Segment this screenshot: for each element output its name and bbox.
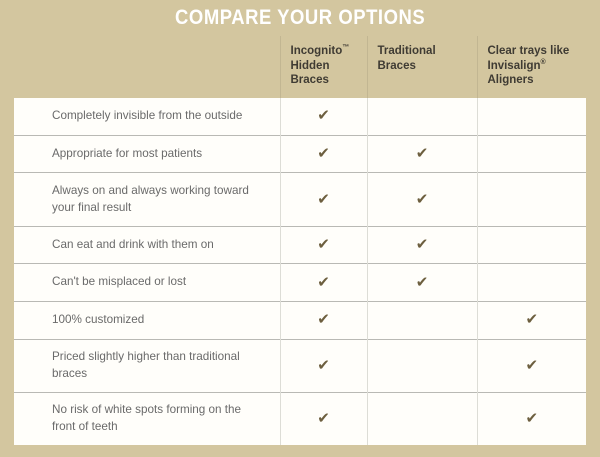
check-icon: ✔ <box>317 358 330 373</box>
column-header-incognito-line1: Incognito <box>291 45 343 57</box>
table-frame: Incognito™ Hidden Braces Traditional Bra… <box>0 36 600 457</box>
table-row: Can eat and drink with them on✔✔✔ <box>14 226 586 264</box>
table-header: Incognito™ Hidden Braces Traditional Bra… <box>14 36 586 98</box>
page-title: COMPARE YOUR OPTIONS <box>175 6 425 30</box>
table-row: Always on and always working toward your… <box>14 173 586 226</box>
cell-incognito: ✔ <box>280 301 367 339</box>
cell-incognito: ✔ <box>280 98 367 135</box>
cell-cleartrays: ✔ <box>477 339 586 392</box>
cell-traditional: ✔ <box>367 135 477 173</box>
table-row: Can't be misplaced or lost✔✔✔ <box>14 264 586 302</box>
check-icon: ✔ <box>416 192 429 207</box>
cell-traditional: ✔ <box>367 264 477 302</box>
table-row: 100% customized✔✔✔ <box>14 301 586 339</box>
cell-incognito: ✔ <box>280 226 367 264</box>
cell-traditional: ✔ <box>367 339 477 392</box>
check-icon: ✔ <box>416 275 429 290</box>
cell-traditional: ✔ <box>367 301 477 339</box>
title-band: COMPARE YOUR OPTIONS <box>0 0 600 36</box>
check-icon: ✔ <box>317 275 330 290</box>
check-icon: ✔ <box>317 411 330 426</box>
column-header-cleartrays-line3: Aligners <box>488 74 534 86</box>
column-header-incognito-line3: Braces <box>291 74 329 86</box>
check-icon: ✔ <box>317 237 330 252</box>
feature-label: 100% customized <box>14 301 280 339</box>
check-icon: ✔ <box>317 312 330 327</box>
comparison-infographic: COMPARE YOUR OPTIONS Incognito™ Hidden B… <box>0 0 600 457</box>
column-header-cleartrays: Clear trays like Invisalign® Aligners <box>477 36 586 98</box>
cell-cleartrays: ✔ <box>477 392 586 445</box>
feature-label: Completely invisible from the outside <box>14 98 280 135</box>
table-row: Appropriate for most patients✔✔✔ <box>14 135 586 173</box>
check-icon: ✔ <box>317 192 330 207</box>
cell-cleartrays: ✔ <box>477 226 586 264</box>
check-icon: ✔ <box>317 146 330 161</box>
cell-traditional: ✔ <box>367 226 477 264</box>
column-header-traditional-line1: Traditional <box>378 45 436 57</box>
trademark-icon: ™ <box>342 44 349 51</box>
cell-traditional: ✔ <box>367 392 477 445</box>
table-row: Completely invisible from the outside✔✔✔ <box>14 98 586 135</box>
cell-cleartrays: ✔ <box>477 98 586 135</box>
cell-traditional: ✔ <box>367 98 477 135</box>
table-row: Priced slightly higher than traditional … <box>14 339 586 392</box>
column-header-cleartrays-line2: Invisalign <box>488 60 541 72</box>
check-icon: ✔ <box>317 108 330 123</box>
cell-incognito: ✔ <box>280 339 367 392</box>
cell-incognito: ✔ <box>280 135 367 173</box>
feature-label: Priced slightly higher than traditional … <box>14 339 280 392</box>
check-icon: ✔ <box>525 358 538 373</box>
column-header-traditional: Traditional Braces <box>367 36 477 98</box>
column-header-incognito-line2: Hidden <box>291 60 330 72</box>
cell-incognito: ✔ <box>280 173 367 226</box>
feature-label: Always on and always working toward your… <box>14 173 280 226</box>
check-icon: ✔ <box>525 312 538 327</box>
column-header-feature <box>14 36 280 98</box>
table-row: No risk of white spots forming on the fr… <box>14 392 586 445</box>
feature-label: Can eat and drink with them on <box>14 226 280 264</box>
comparison-table: Incognito™ Hidden Braces Traditional Bra… <box>14 36 586 445</box>
feature-label: Can't be misplaced or lost <box>14 264 280 302</box>
feature-label: No risk of white spots forming on the fr… <box>14 392 280 445</box>
column-header-traditional-line2: Braces <box>378 60 416 72</box>
check-icon: ✔ <box>525 411 538 426</box>
column-header-incognito: Incognito™ Hidden Braces <box>280 36 367 98</box>
cell-incognito: ✔ <box>280 392 367 445</box>
cell-cleartrays: ✔ <box>477 264 586 302</box>
registered-icon: ® <box>541 59 546 66</box>
check-icon: ✔ <box>416 237 429 252</box>
column-header-cleartrays-line1: Clear trays like <box>488 45 570 57</box>
cell-cleartrays: ✔ <box>477 173 586 226</box>
cell-cleartrays: ✔ <box>477 135 586 173</box>
cell-incognito: ✔ <box>280 264 367 302</box>
check-icon: ✔ <box>416 146 429 161</box>
header-row: Incognito™ Hidden Braces Traditional Bra… <box>14 36 586 98</box>
table-body: Completely invisible from the outside✔✔✔… <box>14 98 586 445</box>
cell-cleartrays: ✔ <box>477 301 586 339</box>
feature-label: Appropriate for most patients <box>14 135 280 173</box>
cell-traditional: ✔ <box>367 173 477 226</box>
